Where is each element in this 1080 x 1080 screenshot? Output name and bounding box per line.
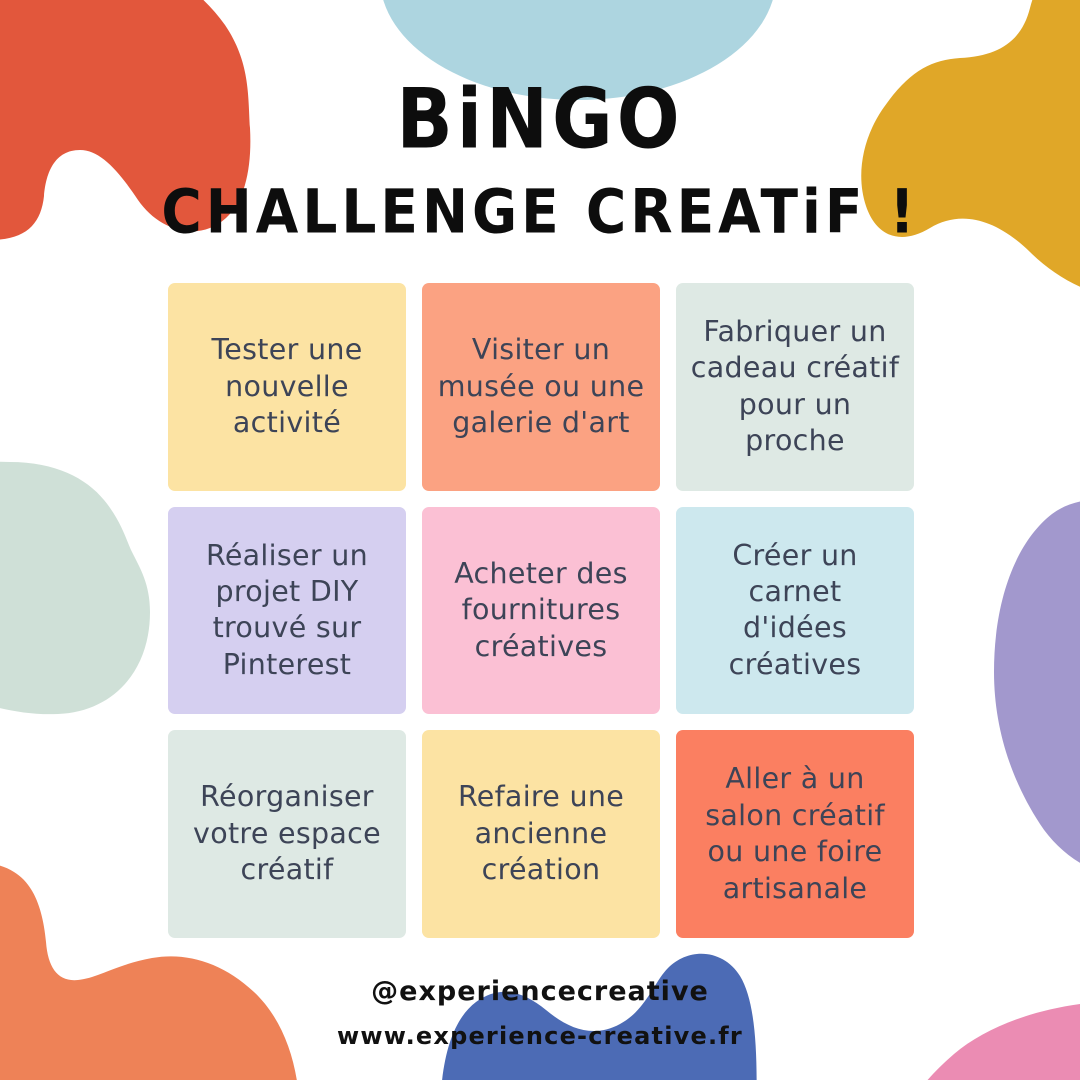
social-handle[interactable]: @experiencecreative xyxy=(0,978,1080,1005)
bingo-cell-text: Visiter un musée ou une galerie d'art xyxy=(438,332,645,441)
bingo-cell[interactable]: Fabriquer un cadeau créatif pour un proc… xyxy=(676,283,914,491)
bingo-cell[interactable]: Réorganiser votre espace créatif xyxy=(168,730,406,938)
bingo-cell-text: Créer un carnet d'idées créatives xyxy=(729,538,862,684)
bingo-cell[interactable]: Réaliser un projet DIY trouvé sur Pinter… xyxy=(168,507,406,715)
bingo-cell[interactable]: Visiter un musée ou une galerie d'art xyxy=(422,283,660,491)
bingo-cell[interactable]: Refaire une ancienne création xyxy=(422,730,660,938)
bingo-cell-text: Tester une nouvelle activité xyxy=(211,332,362,441)
bingo-cell-text: Acheter des fournitures créatives xyxy=(454,556,628,665)
bingo-cell[interactable]: Acheter des fournitures créatives xyxy=(422,507,660,715)
left-mint-blob xyxy=(0,460,150,714)
bingo-grid: Tester une nouvelle activitéVisiter un m… xyxy=(168,283,914,938)
bingo-cell[interactable]: Tester une nouvelle activité xyxy=(168,283,406,491)
bingo-cell[interactable]: Créer un carnet d'idées créatives xyxy=(676,507,914,715)
bingo-cell-text: Fabriquer un cadeau créatif pour un proc… xyxy=(690,314,900,460)
bingo-cell[interactable]: Aller à un salon créatif ou une foire ar… xyxy=(676,730,914,938)
footer: @experiencecreative www.experience-creat… xyxy=(0,978,1080,1048)
right-purple-blob xyxy=(994,499,1080,880)
page-subtitle: CHALLENGE CREATiF ! xyxy=(0,182,1080,243)
bingo-poster: BiNGO CHALLENGE CREATiF ! Tester une nou… xyxy=(0,0,1080,1080)
bingo-cell-text: Refaire une ancienne création xyxy=(458,779,624,888)
website-url[interactable]: www.experience-creative.fr xyxy=(0,1024,1080,1048)
page-title: BiNGO xyxy=(0,78,1080,161)
bingo-cell-text: Réorganiser votre espace créatif xyxy=(193,779,381,888)
bingo-cell-text: Aller à un salon créatif ou une foire ar… xyxy=(705,761,885,907)
bingo-cell-text: Réaliser un projet DIY trouvé sur Pinter… xyxy=(206,538,368,684)
title-block: BiNGO CHALLENGE CREATiF ! xyxy=(0,78,1080,237)
